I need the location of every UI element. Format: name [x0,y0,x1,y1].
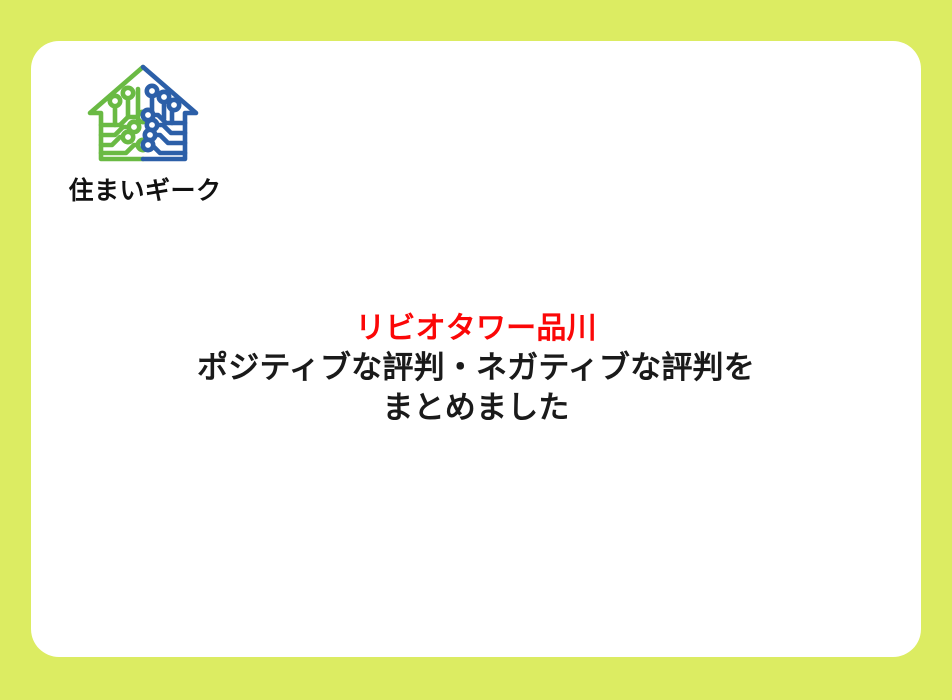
content-card: 住まいギーク リビオタワー品川 ポジティブな評判・ネガティブな評判を まとめまし… [31,41,921,657]
slide-background: 住まいギーク リビオタワー品川 ポジティブな評判・ネガティブな評判を まとめまし… [0,0,952,700]
headline-block: リビオタワー品川 ポジティブな評判・ネガティブな評判を まとめました [31,309,921,429]
circuit-house-logo-icon [82,61,204,173]
headline-subtitle-line-2: まとめました [31,388,921,428]
headline-subtitle-line-1: ポジティブな評判・ネガティブな評判を [31,348,921,388]
headline-property-name: リビオタワー品川 [31,309,921,348]
brand-block: 住まいギーク [55,61,275,205]
brand-name: 住まいギーク [55,177,235,205]
